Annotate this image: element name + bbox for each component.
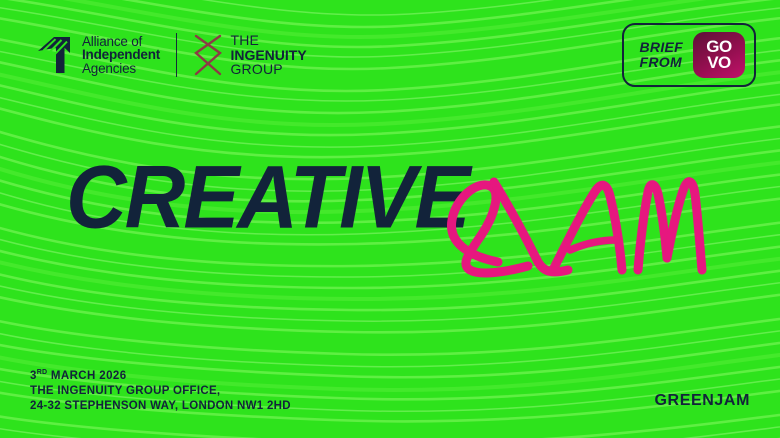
hero-word-creative: CREATIVE	[66, 152, 468, 241]
event-venue-line-1: THE INGENUITY GROUP OFFICE,	[30, 384, 291, 399]
partner-logos: Alliance of Independent Agencies THE ING…	[36, 33, 307, 77]
ingenuity-line-2: INGENUITY	[230, 48, 306, 62]
alliance-line-1: Alliance of	[82, 35, 160, 49]
govo-logo: GO VO	[693, 32, 745, 78]
greenjam-brand: GREENJAM	[655, 392, 750, 410]
brief-line-2: FROM	[640, 55, 684, 70]
logo-divider	[176, 33, 177, 77]
event-details: 3RD MARCH 2026 THE INGENUITY GROUP OFFIC…	[30, 365, 291, 414]
ingenuity-line-1: THE	[230, 33, 306, 47]
event-date-rest: MARCH 2026	[47, 370, 126, 382]
alliance-logo-text: Alliance of Independent Agencies	[82, 35, 160, 76]
alliance-of-independent-agencies-logo: Alliance of Independent Agencies	[36, 35, 160, 76]
ingenuity-logo-text: THE INGENUITY GROUP	[230, 33, 306, 76]
alliance-arrow-mark	[36, 35, 74, 75]
ingenuity-group-logo: THE INGENUITY GROUP	[193, 33, 306, 77]
creative-slam-poster: Alliance of Independent Agencies THE ING…	[0, 0, 780, 438]
poster-header: Alliance of Independent Agencies THE ING…	[0, 0, 780, 110]
hero-title: CREATIVE SLAM	[0, 146, 780, 296]
hero-word-slam-script: SLAM	[432, 146, 722, 286]
govo-line-bottom: VO	[707, 55, 731, 71]
event-date-ordinal: RD	[37, 369, 48, 376]
brief-from-text: BRIEF FROM	[640, 40, 684, 70]
alliance-line-2: Independent	[82, 48, 160, 62]
event-date: 3RD MARCH 2026	[30, 365, 291, 384]
event-date-number: 3	[30, 370, 37, 382]
ingenuity-x-mark	[193, 33, 223, 77]
ingenuity-line-3: GROUP	[230, 62, 306, 76]
alliance-line-3: Agencies	[82, 62, 160, 76]
event-venue-line-2: 24-32 STEPHENSON WAY, LONDON NW1 2HD	[30, 399, 291, 414]
brief-from-badge: BRIEF FROM GO VO	[622, 23, 757, 87]
brief-line-1: BRIEF	[640, 40, 684, 55]
